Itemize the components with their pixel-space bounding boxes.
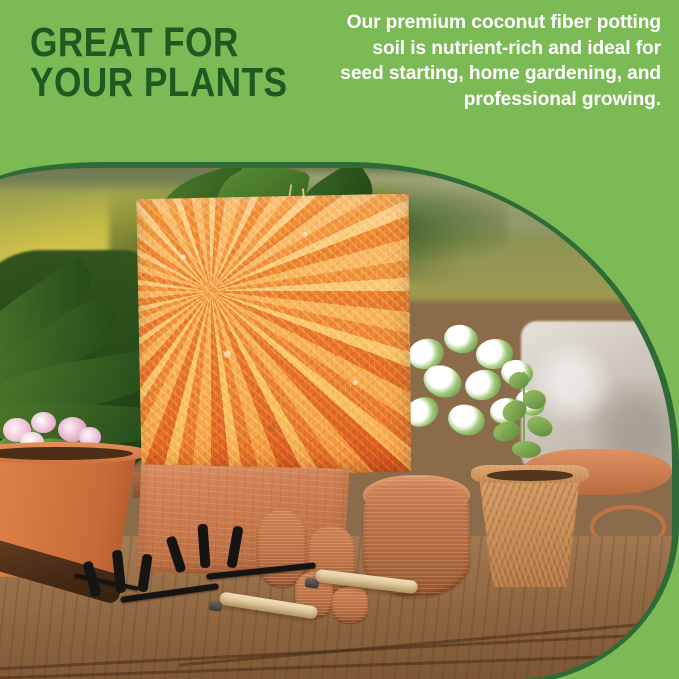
header-band: GREAT FOR YOUR PLANTS Our premium coconu… <box>0 0 679 176</box>
headline-line-2: YOUR PLANTS <box>30 62 288 102</box>
cultivator-tine <box>137 554 152 593</box>
cultivator-tine <box>82 560 101 597</box>
cultivator-tine <box>111 549 125 593</box>
variegated-leaf <box>462 366 504 403</box>
cultivator-shaft <box>120 583 219 602</box>
flower-bloom <box>31 412 57 434</box>
product-photo-frame <box>0 168 679 679</box>
coir-pot-body <box>475 473 584 587</box>
product-banner: GREAT FOR YOUR PLANTS Our premium coconu… <box>0 0 679 679</box>
coir-disc-top-face <box>363 475 469 517</box>
variegated-leaf <box>444 400 488 439</box>
coir-fiber-pot <box>473 454 586 587</box>
photo-scene <box>0 168 672 679</box>
subcopy-text: Our premium coconut fiber potting soil i… <box>339 10 661 112</box>
coir-compressed-block <box>133 194 411 480</box>
headline-line-1: GREAT FOR <box>30 19 239 65</box>
cultivator-wood-handle <box>218 591 318 620</box>
coir-pot-opening <box>487 470 573 481</box>
hand-cultivator-1 <box>48 556 377 668</box>
variegated-leaf <box>441 322 480 356</box>
product-photo <box>0 168 672 679</box>
page-title: GREAT FOR YOUR PLANTS <box>30 22 288 102</box>
